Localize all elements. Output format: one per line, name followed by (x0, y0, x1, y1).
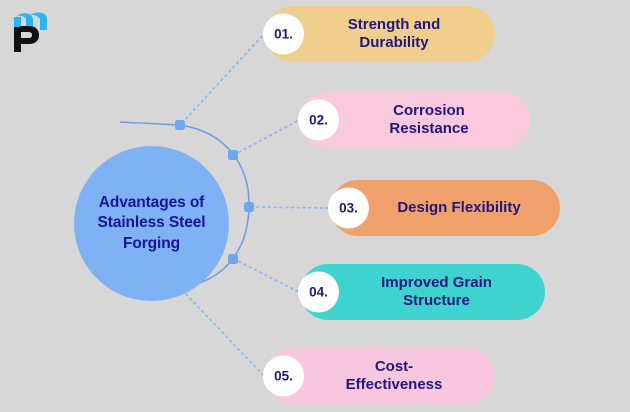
advantage-number-01: 01. (274, 27, 293, 42)
advantage-item-03[interactable]: Design Flexibility 03. (330, 180, 560, 236)
connector-node-02 (228, 150, 238, 160)
connector-node-01 (175, 120, 185, 130)
advantage-number-badge-05: 05. (263, 356, 304, 397)
advantage-number-03: 03. (339, 201, 358, 216)
connector-node-04 (228, 254, 238, 264)
advantage-label-04: Improved Grain Structure (339, 274, 506, 311)
central-hub: Advantages of Stainless Steel Forging (74, 146, 229, 301)
hub-stub-top (120, 122, 180, 125)
infographic-canvas: Advantages of Stainless Steel Forging St… (0, 0, 630, 412)
advantage-number-badge-02: 02. (298, 100, 339, 141)
advantage-label-02: Corrosion Resistance (347, 102, 482, 139)
advantage-item-02[interactable]: Corrosion Resistance 02. (300, 92, 530, 148)
advantage-item-04[interactable]: Improved Grain Structure 04. (300, 264, 545, 320)
advantage-item-01[interactable]: Strength and Durability 01. (265, 6, 495, 62)
leader-line-05 (182, 290, 264, 376)
advantage-number-05: 05. (274, 369, 293, 384)
advantage-label-01: Strength and Durability (306, 16, 455, 53)
advantage-number-badge-01: 01. (263, 14, 304, 55)
leader-line-02 (234, 120, 299, 155)
advantage-item-05[interactable]: Cost- Effectiveness 05. (265, 348, 495, 404)
leader-line-04 (234, 259, 299, 292)
advantage-label-03: Design Flexibility (355, 199, 534, 217)
advantage-number-02: 02. (309, 113, 328, 128)
leader-line-03 (251, 207, 329, 208)
advantage-number-04: 04. (309, 285, 328, 300)
leader-line-01 (182, 34, 264, 123)
connector-node-03 (244, 202, 254, 212)
hub-title: Advantages of Stainless Steel Forging (74, 193, 229, 254)
advantage-number-badge-04: 04. (298, 272, 339, 313)
advantage-number-badge-03: 03. (328, 188, 369, 229)
advantage-label-05: Cost- Effectiveness (304, 358, 457, 395)
